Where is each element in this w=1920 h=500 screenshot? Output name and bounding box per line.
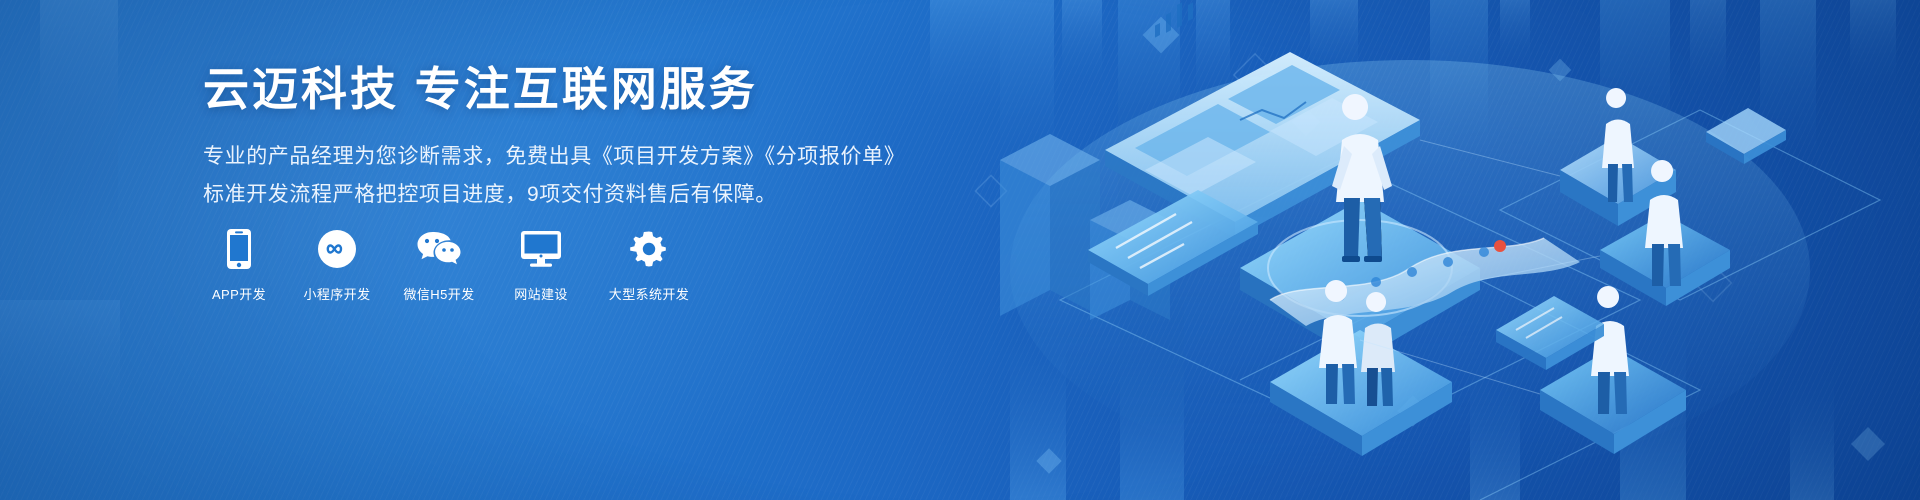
service-item-app[interactable]: APP开发 bbox=[203, 228, 275, 303]
isometric-illustration bbox=[940, 0, 1920, 500]
hero-text-block: 云迈科技 专注互联网服务 专业的产品经理为您诊断需求，免费出具《项目开发方案》《… bbox=[203, 62, 963, 214]
desktop-monitor-icon bbox=[520, 228, 562, 270]
service-item-wechat-h5[interactable]: 微信H5开发 bbox=[399, 228, 479, 303]
service-list: APP开发 小程序开发 bbox=[203, 228, 695, 303]
mobile-phone-icon bbox=[226, 228, 252, 270]
service-label-large-system: 大型系统开发 bbox=[609, 284, 689, 303]
service-label-wechat-h5: 微信H5开发 bbox=[403, 284, 474, 303]
service-item-mini-program[interactable]: 小程序开发 bbox=[301, 228, 373, 303]
service-item-website[interactable]: 网站建设 bbox=[505, 228, 577, 303]
subtitle-line-1: 专业的产品经理为您诊断需求，免费出具《项目开发方案》《分项报价单》 bbox=[203, 138, 963, 176]
wechat-bubbles-icon bbox=[416, 228, 462, 270]
gear-icon bbox=[629, 228, 669, 270]
mini-program-icon bbox=[317, 228, 357, 270]
subtitle-line-2: 标准开发流程严格把控项目进度，9项交付资料售后有保障。 bbox=[203, 176, 963, 214]
service-label-mini-program: 小程序开发 bbox=[303, 284, 370, 303]
hero-banner: 云迈科技 专注互联网服务 专业的产品经理为您诊断需求，免费出具《项目开发方案》《… bbox=[0, 0, 1920, 500]
page-title: 云迈科技 专注互联网服务 bbox=[203, 62, 963, 116]
service-label-website: 网站建设 bbox=[514, 284, 568, 303]
service-item-large-system[interactable]: 大型系统开发 bbox=[603, 228, 695, 303]
hero-subtitle: 专业的产品经理为您诊断需求，免费出具《项目开发方案》《分项报价单》 标准开发流程… bbox=[203, 138, 963, 214]
service-label-app: APP开发 bbox=[212, 284, 266, 303]
